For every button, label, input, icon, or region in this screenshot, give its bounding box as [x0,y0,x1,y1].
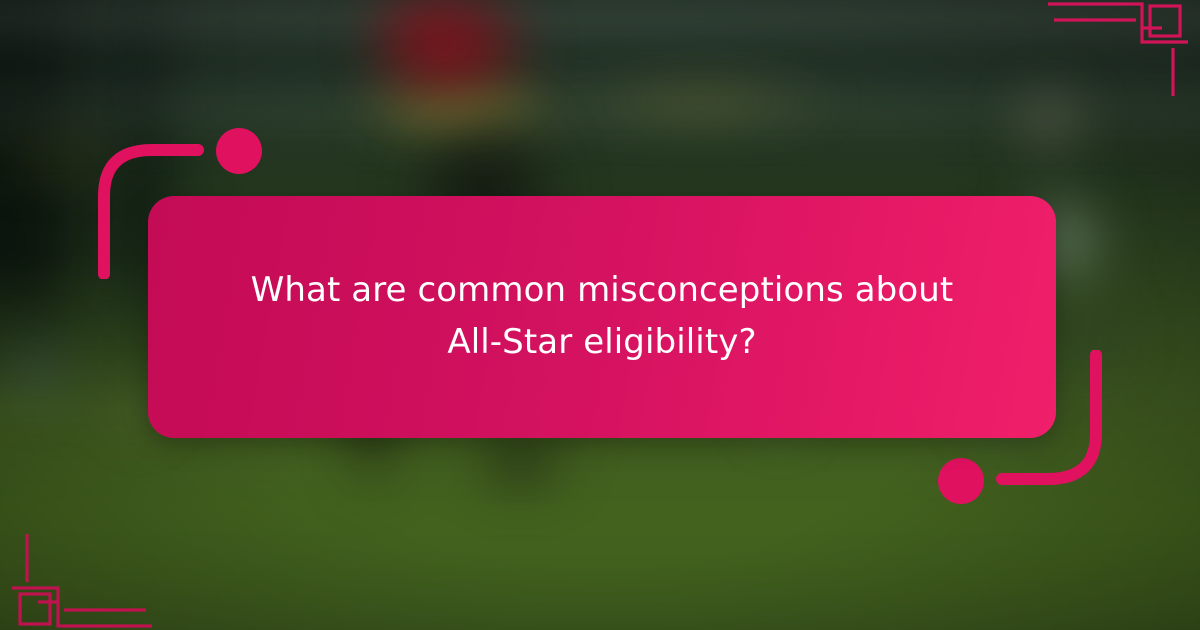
question-card: What are common misconceptions about All… [148,196,1056,438]
share-card-canvas: What are common misconceptions about All… [0,0,1200,630]
page-title: What are common misconceptions about All… [192,265,1012,368]
accent-dot-icon [216,128,262,174]
accent-dot-icon [938,458,984,504]
